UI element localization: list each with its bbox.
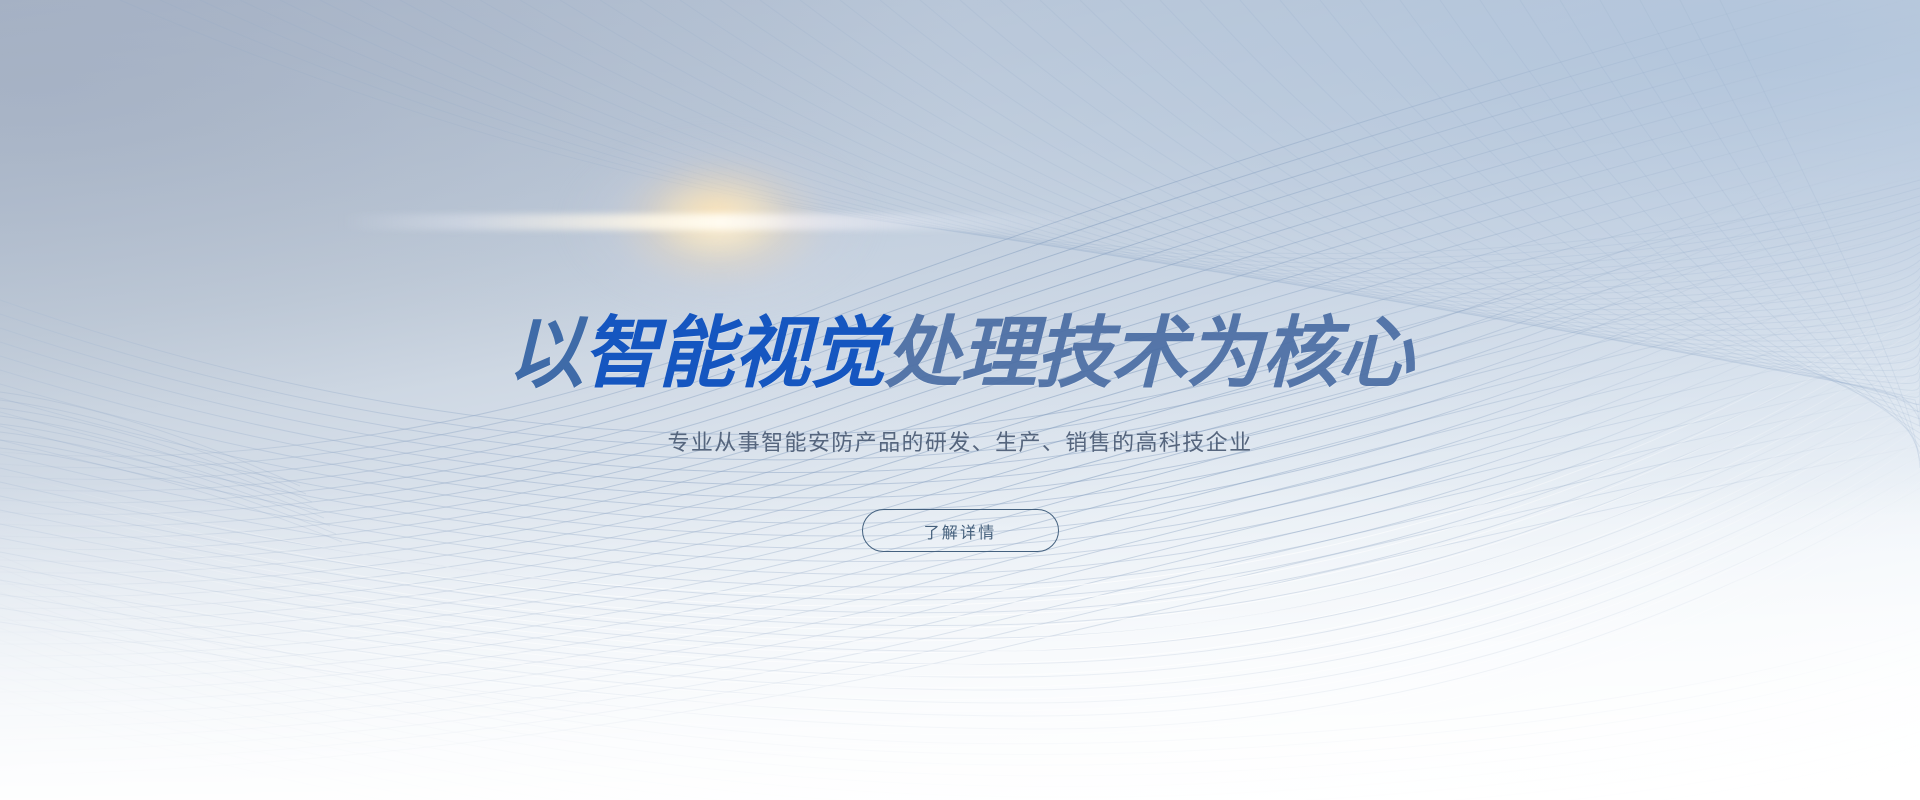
headline-segment-muted: 处理技术为核心 — [885, 315, 1413, 393]
headline-segment-accent: 智能视觉 — [583, 315, 885, 393]
hero-cta-container: 了解详情 — [0, 509, 1920, 552]
hero-subtitle: 专业从事智能安防产品的研发、生产、销售的高科技企业 — [0, 425, 1920, 457]
hero-headline: 以智能视觉处理技术为核心 — [19, 315, 1901, 393]
learn-more-button[interactable]: 了解详情 — [862, 509, 1059, 552]
headline-segment-lead: 以 — [507, 315, 582, 393]
hero-banner: 以智能视觉处理技术为核心 专业从事智能安防产品的研发、生产、销售的高科技企业 了… — [0, 0, 1920, 800]
